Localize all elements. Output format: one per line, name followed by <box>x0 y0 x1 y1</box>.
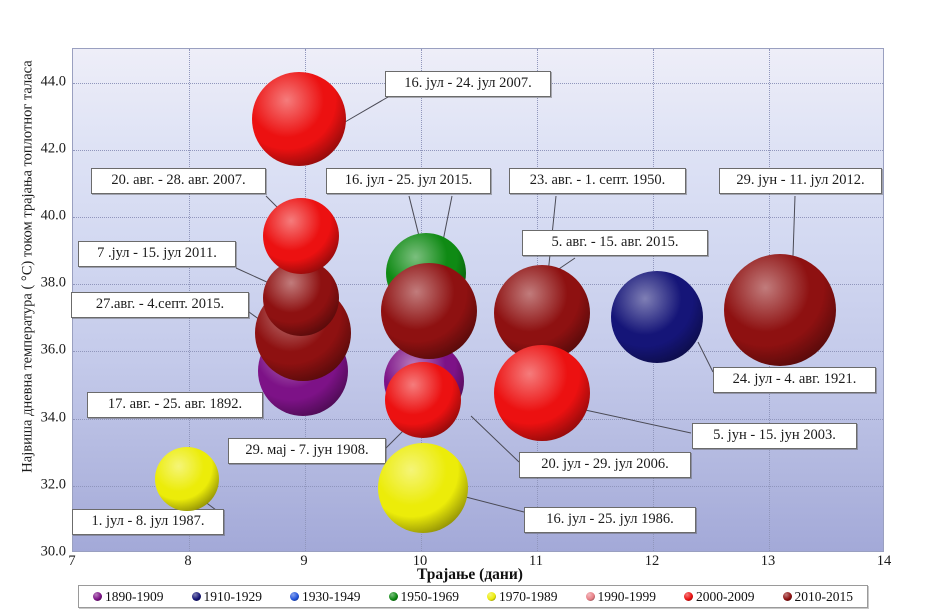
data-bubble[interactable] <box>385 362 461 438</box>
legend-item[interactable]: 2010-2015 <box>783 589 854 605</box>
legend-item-label: 1930-1949 <box>302 589 361 605</box>
legend-item-label: 1890-1909 <box>105 589 164 605</box>
callout-label[interactable]: 20. авг. - 28. авг. 2007. <box>91 168 266 194</box>
legend-color-dot-icon <box>783 592 792 601</box>
legend-item[interactable]: 1970-1989 <box>487 589 558 605</box>
callout-label[interactable]: 29. мај - 7. јун 1908. <box>228 438 386 464</box>
data-bubble[interactable] <box>494 345 590 441</box>
legend-item[interactable]: 1910-1929 <box>192 589 263 605</box>
data-bubble[interactable] <box>381 263 477 359</box>
callout-label[interactable]: 27.авг. - 4.септ. 2015. <box>71 292 249 318</box>
callout-label[interactable]: 17. авг. - 25. авг. 1892. <box>87 392 263 418</box>
legend-color-dot-icon <box>586 592 595 601</box>
callout-label[interactable]: 29. јун - 11. јул 2012. <box>719 168 882 194</box>
callout-label[interactable]: 16. јул - 24. јул 2007. <box>385 71 551 97</box>
legend-color-dot-icon <box>192 592 201 601</box>
legend-item[interactable]: 1930-1949 <box>290 589 361 605</box>
data-bubble[interactable] <box>252 72 346 166</box>
data-bubble[interactable] <box>263 198 339 274</box>
callout-label[interactable]: 23. авг. - 1. септ. 1950. <box>509 168 686 194</box>
callout-label[interactable]: 20. јул - 29. јул 2006. <box>519 452 691 478</box>
legend-item-label: 1970-1989 <box>499 589 558 605</box>
data-bubble[interactable] <box>155 447 219 511</box>
callout-label[interactable]: 5. јун - 15. јун 2003. <box>692 423 857 449</box>
legend-color-dot-icon <box>389 592 398 601</box>
chart-legend: 1890-19091910-19291930-19491950-19691970… <box>78 585 868 608</box>
bubble-chart: 16. јул - 24. јул 2007.20. авг. - 28. ав… <box>0 0 940 614</box>
legend-item[interactable]: 1950-1969 <box>389 589 460 605</box>
legend-item[interactable]: 1990-1999 <box>586 589 657 605</box>
legend-color-dot-icon <box>684 592 693 601</box>
legend-color-dot-icon <box>290 592 299 601</box>
callout-label[interactable]: 16. јул - 25. јул 2015. <box>326 168 491 194</box>
horizontal-gridline <box>73 150 883 151</box>
horizontal-gridline <box>73 217 883 218</box>
callout-label[interactable]: 5. авг. - 15. авг. 2015. <box>522 230 708 256</box>
legend-item[interactable]: 2000-2009 <box>684 589 755 605</box>
legend-item[interactable]: 1890-1909 <box>93 589 164 605</box>
x-axis-title: Трајање (дани) <box>0 566 940 584</box>
y-axis-tick-label: 30.0 <box>0 544 66 561</box>
y-axis-title: Највиша дневна температура ( °C) током т… <box>20 17 37 517</box>
data-bubble[interactable] <box>378 443 468 533</box>
data-bubble[interactable] <box>724 254 836 366</box>
callout-label[interactable]: 16. јул - 25. јул 1986. <box>524 507 696 533</box>
legend-item-label: 1950-1969 <box>401 589 460 605</box>
callout-label[interactable]: 24. јул - 4. авг. 1921. <box>713 367 876 393</box>
legend-color-dot-icon <box>93 592 102 601</box>
legend-item-label: 2000-2009 <box>696 589 755 605</box>
horizontal-gridline <box>73 419 883 420</box>
callout-label[interactable]: 7 .јул - 15. јул 2011. <box>78 241 236 267</box>
legend-item-label: 1910-1929 <box>204 589 263 605</box>
legend-item-label: 1990-1999 <box>598 589 657 605</box>
data-bubble[interactable] <box>611 271 703 363</box>
legend-color-dot-icon <box>487 592 496 601</box>
callout-label[interactable]: 1. јул - 8. јул 1987. <box>72 509 224 535</box>
legend-item-label: 2010-2015 <box>795 589 854 605</box>
